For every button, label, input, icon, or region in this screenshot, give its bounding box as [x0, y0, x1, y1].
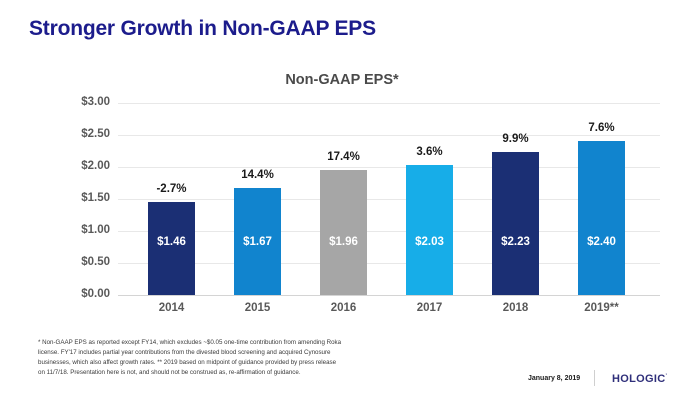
bar-value-label: $2.03	[406, 237, 453, 249]
bar-value-label: $1.96	[320, 237, 367, 249]
bar-2014[interactable]: $1.46-2.7%	[148, 202, 195, 295]
footnote-line-4: on 11/7/18. Presentation here is not, an…	[38, 368, 478, 378]
footnote-line-3: businesses, which also affect growth rat…	[38, 358, 478, 368]
x-axis-tick-label: 2014	[132, 303, 212, 315]
footnote-line-2: license. FY'17 includes partial year con…	[38, 348, 478, 358]
bar-2018[interactable]: $2.239.9%	[492, 152, 539, 295]
footer-divider	[594, 370, 595, 386]
bar-chart: Non-GAAP EPS* $1.46-2.7%2014$1.6714.4%20…	[0, 62, 684, 312]
logo-text: HOLOGIC	[612, 373, 665, 385]
bar-value-label: $1.46	[148, 237, 195, 249]
presentation-date: January 8, 2019	[528, 375, 580, 382]
footnote-line-1: * Non-GAAP EPS as reported except FY14, …	[38, 338, 478, 348]
bar-value-label: $2.40	[578, 237, 625, 249]
y-axis-tick-label: $1.00	[58, 225, 110, 237]
bar-value-label: $2.23	[492, 237, 539, 249]
y-axis-tick-label: $2.00	[58, 161, 110, 173]
footnote: * Non-GAAP EPS as reported except FY14, …	[38, 338, 478, 378]
bar-2016[interactable]: $1.9617.4%	[320, 170, 367, 295]
chart-plot-area: $1.46-2.7%2014$1.6714.4%2015$1.9617.4%20…	[118, 103, 660, 295]
chart-title: Non-GAAP EPS*	[0, 72, 684, 88]
hologic-logo: HOLOGIC’	[612, 373, 667, 385]
y-axis-tick-label: $1.50	[58, 193, 110, 205]
y-axis-tick-label: $0.50	[58, 257, 110, 269]
gridline	[118, 135, 660, 136]
x-axis-tick-label: 2019**	[562, 303, 642, 315]
gridline	[118, 103, 660, 104]
bar-growth-label: 7.6%	[572, 123, 631, 135]
gridline	[118, 295, 660, 296]
x-axis-tick-label: 2017	[390, 303, 470, 315]
x-axis-tick-label: 2018	[476, 303, 556, 315]
logo-trademark-icon: ’	[665, 373, 667, 379]
bar-growth-label: 14.4%	[228, 170, 287, 182]
bar-2015[interactable]: $1.6714.4%	[234, 188, 281, 295]
y-axis-tick-label: $3.00	[58, 97, 110, 109]
bar-value-label: $1.67	[234, 237, 281, 249]
bar-2017[interactable]: $2.033.6%	[406, 165, 453, 295]
y-axis-tick-label: $2.50	[58, 129, 110, 141]
bar-growth-label: 3.6%	[400, 147, 459, 159]
x-axis-tick-label: 2016	[304, 303, 384, 315]
y-axis-tick-label: $0.00	[58, 289, 110, 301]
bar-growth-label: 17.4%	[314, 152, 373, 164]
page-title: Stronger Growth in Non-GAAP EPS	[29, 17, 376, 41]
bar-growth-label: -2.7%	[142, 184, 201, 196]
x-axis-tick-label: 2015	[218, 303, 298, 315]
bar-growth-label: 9.9%	[486, 134, 545, 146]
bar-2019[interactable]: $2.407.6%	[578, 141, 625, 295]
